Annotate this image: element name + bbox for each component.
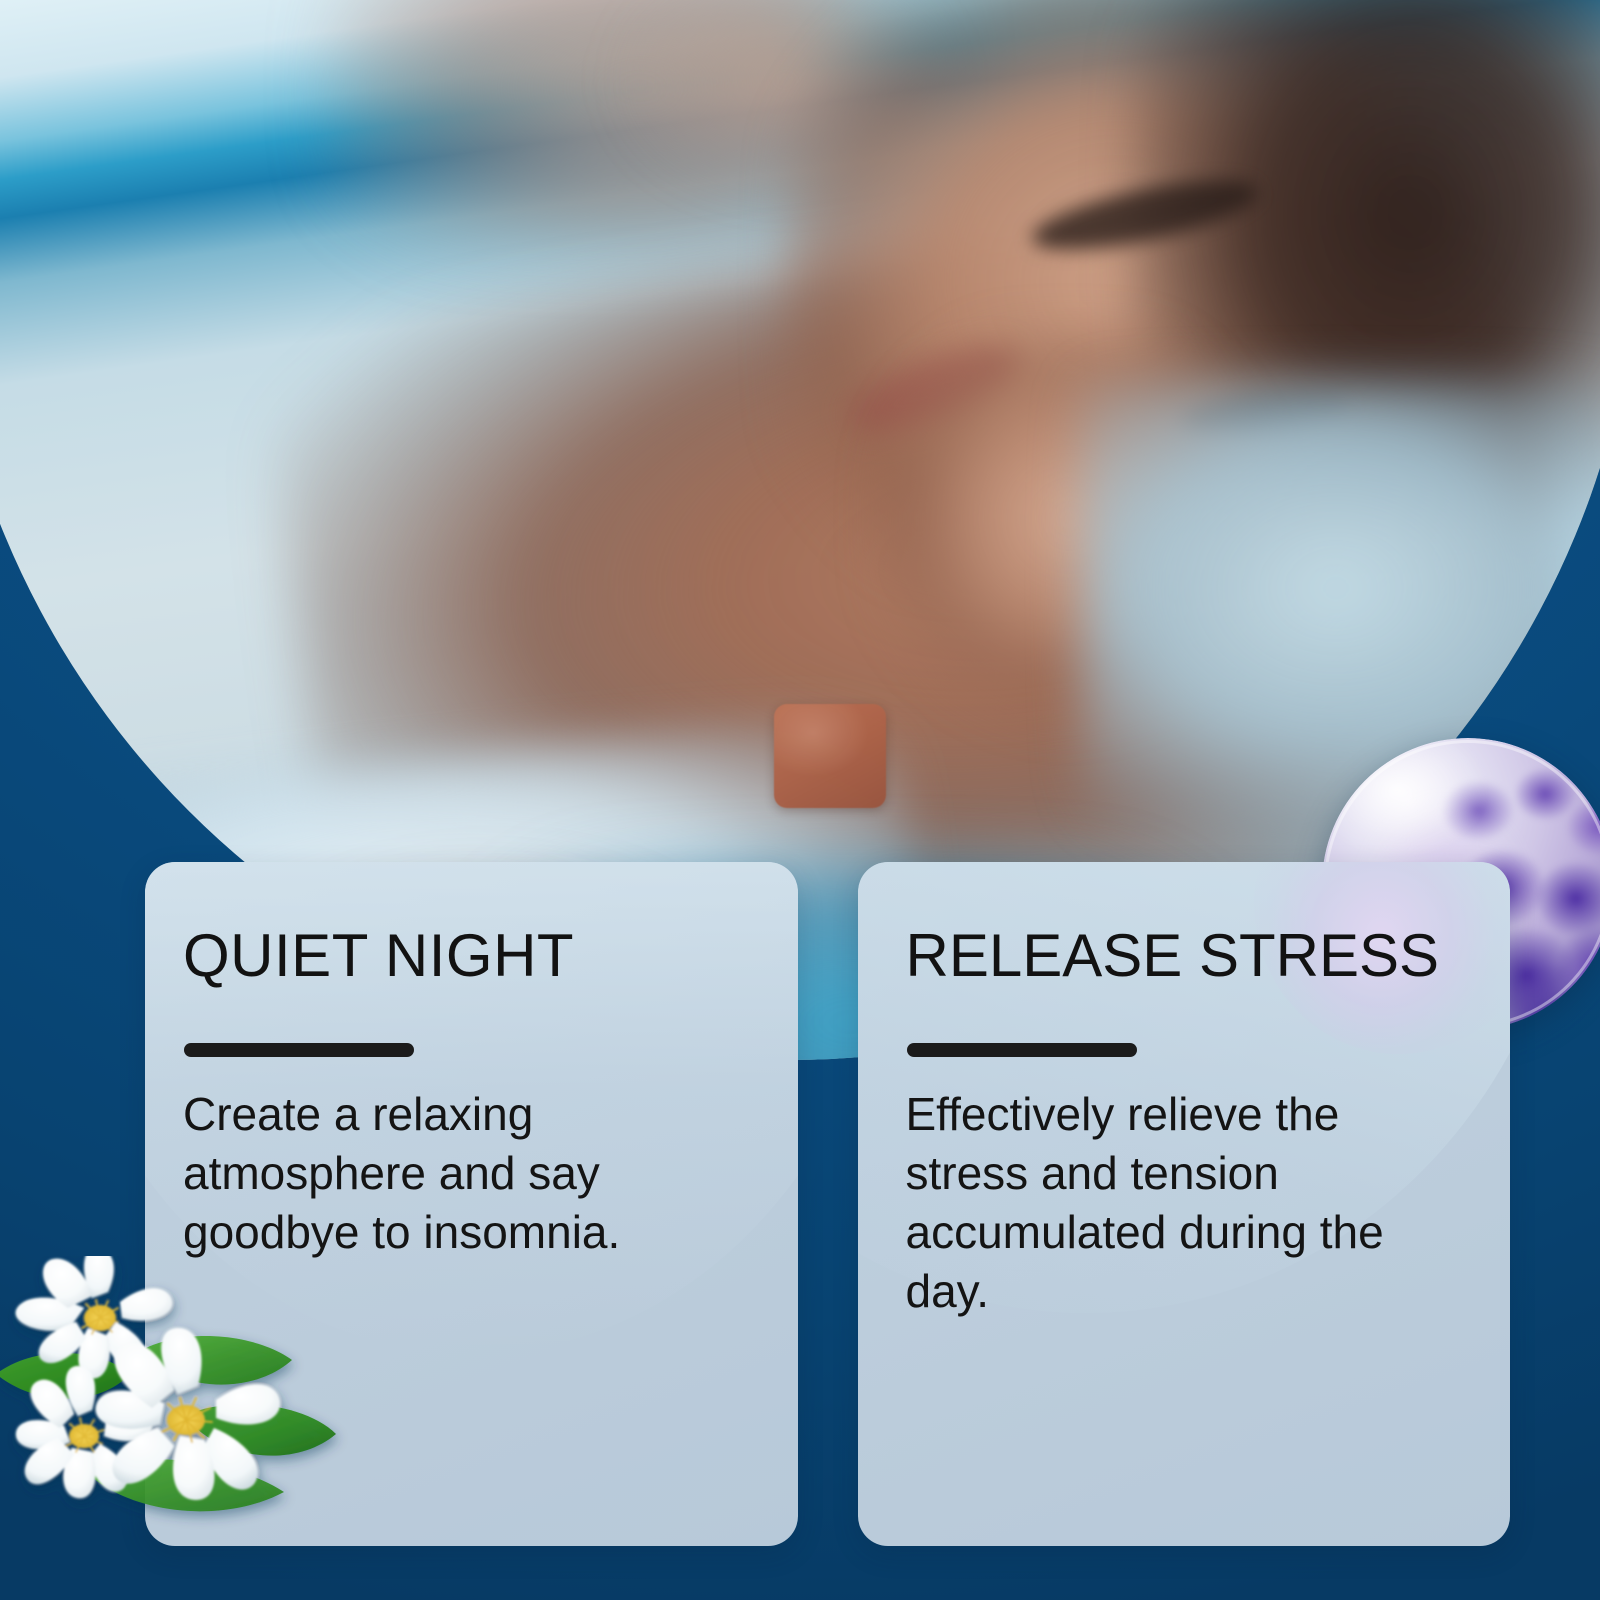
card-title: QUIET NIGHT (183, 924, 758, 987)
product-feature-poster: QUIET NIGHT Create a relaxing atmosphere… (0, 0, 1600, 1600)
card-divider-rule (184, 1043, 414, 1057)
card-divider-rule (907, 1043, 1137, 1057)
card-content: QUIET NIGHT Create a relaxing atmosphere… (145, 862, 798, 1262)
feature-card-row: QUIET NIGHT Create a relaxing atmosphere… (145, 862, 1510, 1546)
feature-card-release-stress[interactable]: RELEASE STRESS Effectively relieve the s… (858, 862, 1511, 1546)
card-description: Effectively relieve the stress and tensi… (906, 1085, 1426, 1321)
card-title: RELEASE STRESS (906, 924, 1471, 987)
feature-card-quiet-night[interactable]: QUIET NIGHT Create a relaxing atmosphere… (145, 862, 798, 1546)
card-content: RELEASE STRESS Effectively relieve the s… (858, 862, 1511, 1321)
card-description: Create a relaxing atmosphere and say goo… (183, 1085, 673, 1262)
sleep-patch-icon (774, 704, 886, 808)
